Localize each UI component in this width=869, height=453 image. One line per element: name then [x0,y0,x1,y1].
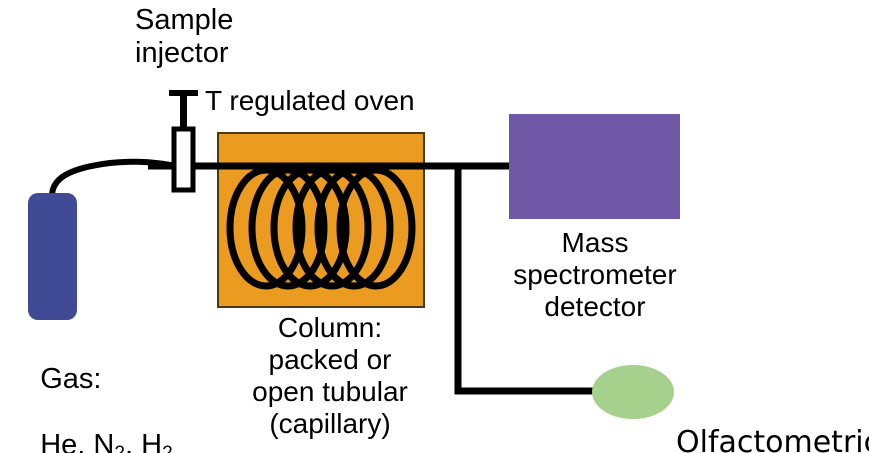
label-mass-spectrometer-detector: Mass spectrometer detector [495,227,695,323]
sample-injector-body [174,129,193,190]
gas-sub-h2: 2 [162,443,173,453]
label-gas-line2: He, N2, H2 [40,429,172,453]
label-sample-injector: Sample injector [135,4,315,70]
label-column: Column: packed or open tubular (capillar… [230,312,430,440]
label-olfactometric-port: Olfactometric port [676,358,869,453]
olfactometric-line1: Olfactometric [676,426,869,453]
label-gas-line1: Gas: [40,363,101,395]
olfactometric-port-ellipse [592,365,674,419]
label-gas: Gas: He, N2, H2 [8,330,178,453]
gas-sub-n2: 2 [114,443,125,453]
diagram-canvas: Sample injector T regulated oven Gas: He… [0,0,869,453]
gas-he-n: He, N [40,429,114,453]
label-t-regulated-oven: T regulated oven [205,85,465,117]
gas-cylinder [28,193,77,320]
gas-h: , H [125,429,162,453]
mass-spectrometer-box [509,114,680,219]
